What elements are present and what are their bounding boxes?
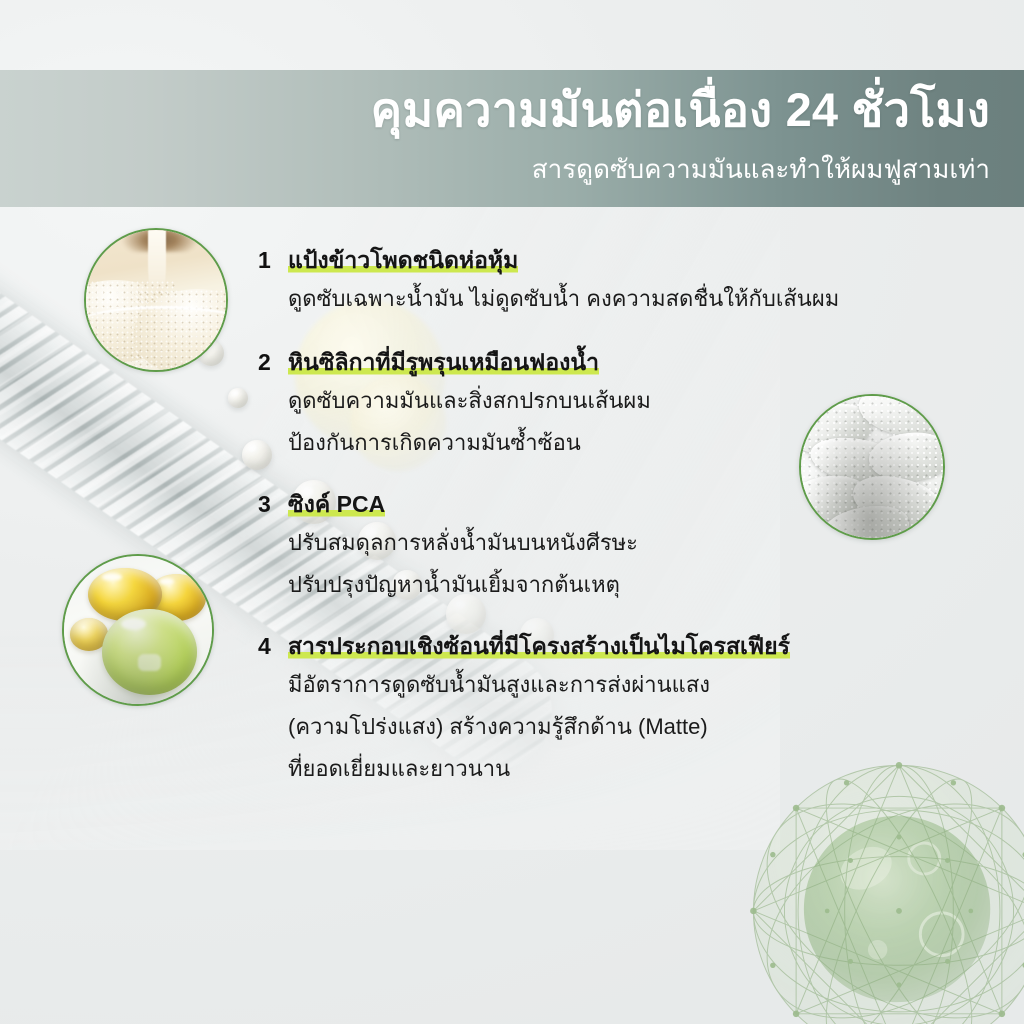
item-number: 4 — [258, 629, 288, 663]
ingredient-image-oil-capsules — [62, 554, 214, 706]
item-description-line: มีอัตราการดูดซับน้ำมันสูงและการส่งผ่านแส… — [288, 665, 998, 705]
water-droplet-icon — [228, 388, 248, 408]
item-number: 1 — [258, 243, 288, 277]
list-item: 3 ซิงค์ PCA ปรับสมดุลการหลั่งน้ำมันบนหนั… — [258, 487, 998, 605]
item-heading: ซิงค์ PCA — [288, 491, 385, 517]
list-item: 4 สารประกอบเชิงซ้อนที่มีโครงสร้างเป็นไมโ… — [258, 629, 998, 789]
item-heading: หินซิลิกาที่มีรูพรุนเหมือนฟองน้ำ — [288, 349, 599, 375]
item-description-line: ปรับสมดุลการหลั่งน้ำมันบนหนังศีรษะ — [288, 523, 998, 563]
oil-capsule-icon — [64, 556, 212, 704]
item-number: 2 — [258, 345, 288, 379]
item-description-line: ปรับปรุงปัญหาน้ำมันเยิ้มจากต้นเหตุ — [288, 565, 998, 605]
item-description-line: ดูดซับความมันและสิ่งสกปรกบนเส้นผม — [288, 381, 998, 421]
header-band: คุมความมันต่อเนื่อง 24 ชั่วโมง สารดูดซับ… — [0, 70, 1024, 207]
page-subtitle: สารดูดซับความมันและทำให้ผมฟูสามเท่า — [532, 156, 990, 182]
list-item: 1 แป้งข้าวโพดชนิดห่อหุ้ม ดูดซับเฉพาะน้ำม… — [258, 243, 998, 319]
item-description-line: ดูดซับเฉพาะน้ำมัน ไม่ดูดซับน้ำ คงความสดช… — [288, 279, 998, 319]
item-number: 3 — [258, 487, 288, 521]
item-description-line: ป้องกันการเกิดความมันซ้ำซ้อน — [288, 423, 998, 463]
corn-starch-icon — [86, 230, 226, 370]
page-title: คุมความมันต่อเนื่อง 24 ชั่วโมง — [371, 86, 990, 133]
list-item: 2 หินซิลิกาที่มีรูพรุนเหมือนฟองน้ำ ดูดซั… — [258, 345, 998, 463]
ingredient-image-corn-starch — [84, 228, 228, 372]
item-heading: สารประกอบเชิงซ้อนที่มีโครงสร้างเป็นไมโคร… — [288, 633, 790, 659]
item-heading: แป้งข้าวโพดชนิดห่อหุ้ม — [288, 247, 518, 273]
item-description-line: (ความโปร่งแสง) สร้างความรู้สึกด้าน (Matt… — [288, 707, 998, 747]
infographic-canvas: คุมความมันต่อเนื่อง 24 ชั่วโมง สารดูดซับ… — [0, 0, 1024, 1024]
ingredient-list: 1 แป้งข้าวโพดชนิดห่อหุ้ม ดูดซับเฉพาะน้ำม… — [258, 243, 998, 807]
item-description-line: ที่ยอดเยี่ยมและยาวนาน — [288, 749, 998, 789]
